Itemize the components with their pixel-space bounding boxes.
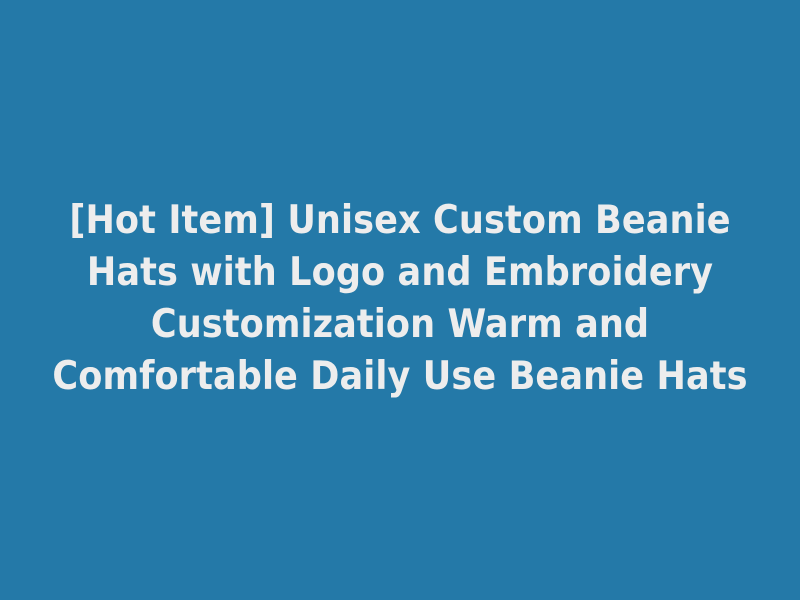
page-title: [Hot Item] Unisex Custom Beanie Hats wit… xyxy=(30,195,770,403)
title-block: [Hot Item] Unisex Custom Beanie Hats wit… xyxy=(30,195,770,405)
product-title-card: [Hot Item] Unisex Custom Beanie Hats wit… xyxy=(0,0,800,600)
